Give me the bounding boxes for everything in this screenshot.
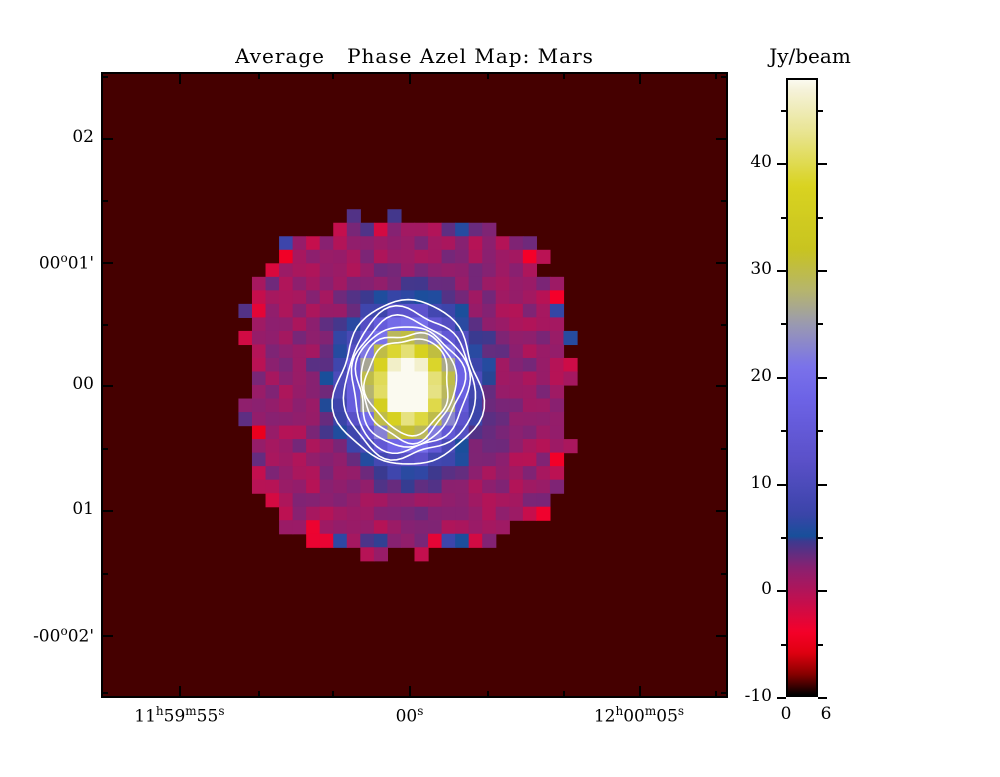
x-axis-tick-label: 11h59m55s [94,704,264,727]
x-axis-minor-tick [101,691,103,698]
y-axis-minor-tick [101,324,108,326]
x-axis-major-tick-top [639,72,641,84]
x-axis-minor-tick-top [563,72,565,79]
colorbar-major-tick-right [818,590,827,592]
y-axis-major-tick-right [716,635,728,637]
azel-map-image [103,74,726,696]
y-axis-tick-label: -00o02' [4,624,94,647]
colorbar-tick-label: 10 [712,473,772,493]
colorbar-tick-label: 0 [712,579,772,599]
x-axis-minor-tick-top [101,72,103,79]
colorbar-tick-label: 30 [712,259,772,279]
colorbar-bottom-label: 6 [806,704,846,724]
x-axis-minor-tick-top [487,72,489,79]
colorbar-gradient [788,80,816,695]
x-axis-minor-tick-top [332,72,334,79]
y-axis-major-tick [101,262,113,264]
x-axis-minor-tick [563,691,565,698]
y-axis-major-tick [101,385,113,387]
colorbar-minor-tick-left [781,110,786,112]
colorbar-bottom-label: 0 [766,704,806,724]
y-axis-minor-tick-right [721,200,728,202]
y-axis-major-tick [101,510,113,512]
y-axis-minor-tick-right [721,573,728,575]
x-axis-major-tick-top [409,72,411,84]
colorbar-minor-tick-right [818,644,823,646]
colorbar-minor-tick-right [818,110,823,112]
colorbar-major-tick-left [777,484,786,486]
colorbar-minor-tick-left [781,323,786,325]
colorbar-major-tick-left [777,590,786,592]
colorbar-minor-tick-right [818,323,823,325]
x-axis-major-tick [179,686,181,698]
y-axis-tick-label: 01 [4,499,94,519]
colorbar-major-tick-left [777,270,786,272]
y-axis-major-tick-right [716,510,728,512]
x-axis-minor-tick [487,691,489,698]
colorbar-minor-tick-right [818,537,823,539]
colorbar-major-tick-left [777,697,786,699]
colorbar-tick-label: 20 [712,366,772,386]
colorbar-minor-tick-left [781,537,786,539]
x-axis-major-tick [639,686,641,698]
x-axis-minor-tick-top [715,72,717,79]
colorbar-minor-tick-right [818,217,823,219]
colorbar-major-tick-left [777,163,786,165]
colorbar-tick-label: -10 [712,686,772,706]
x-axis-tick-label: 12h00m05s [554,704,724,727]
colorbar-unit-label: Jy/beam [730,44,890,68]
y-axis-major-tick [101,138,113,140]
y-axis-minor-tick-right [721,448,728,450]
colorbar-minor-tick-left [781,217,786,219]
y-axis-minor-tick [101,200,108,202]
colorbar-major-tick-right [818,377,827,379]
colorbar-major-tick-right [818,697,827,699]
colorbar-major-tick-left [777,377,786,379]
colorbar-minor-tick-right [818,430,823,432]
map-plot-area[interactable] [101,72,728,698]
colorbar-minor-tick-left [781,644,786,646]
x-axis-minor-tick [258,691,260,698]
y-axis-tick-label: 00 [4,374,94,394]
figure-root: Average Phase Azel Map: Mars 0200o01'000… [0,0,1000,777]
colorbar-tick-label: 40 [712,152,772,172]
colorbar-major-tick-right [818,484,827,486]
y-axis-tick-label: 02 [4,127,94,147]
y-axis-minor-tick [101,573,108,575]
page-title: Average Phase Azel Map: Mars [101,44,728,68]
y-axis-major-tick-right [716,138,728,140]
y-axis-minor-tick-right [721,76,728,78]
y-axis-minor-tick [101,448,108,450]
x-axis-tick-label: 00s [324,704,494,727]
y-axis-tick-label: 00o01' [4,251,94,274]
x-axis-major-tick-top [179,72,181,84]
y-axis-minor-tick-right [721,324,728,326]
x-axis-major-tick [409,686,411,698]
y-axis-major-tick [101,635,113,637]
x-axis-minor-tick-top [258,72,260,79]
x-axis-minor-tick [332,691,334,698]
colorbar-major-tick-right [818,270,827,272]
colorbar[interactable] [786,78,818,697]
colorbar-minor-tick-left [781,430,786,432]
colorbar-major-tick-right [818,163,827,165]
